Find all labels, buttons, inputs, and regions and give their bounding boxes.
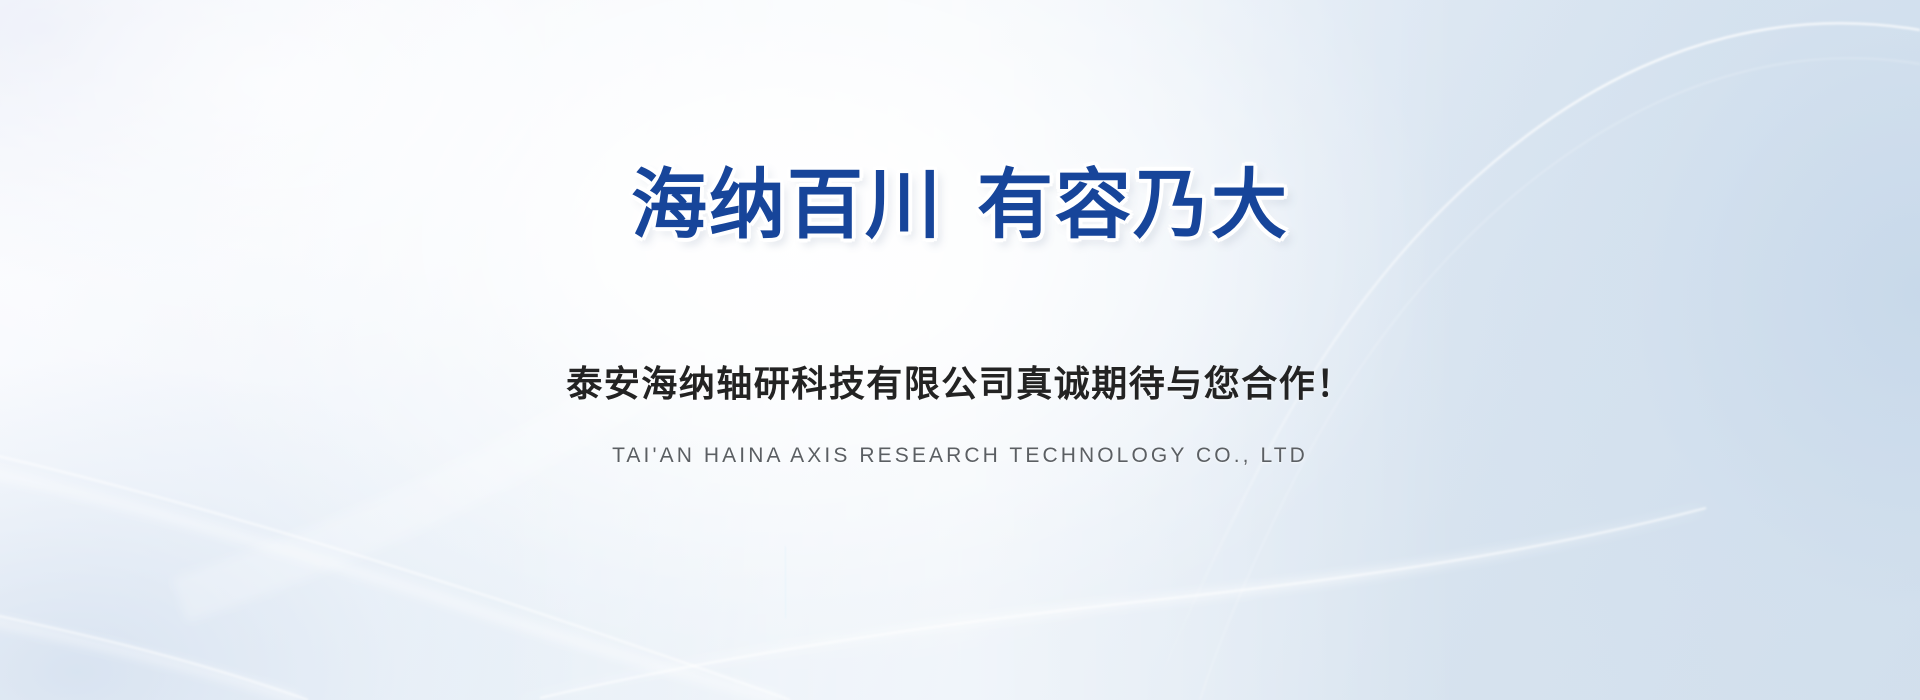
subtitle-english: TAI'AN HAINA AXIS RESEARCH TECHNOLOGY CO…	[0, 443, 1920, 468]
page-title: 海纳百川有容乃大	[0, 168, 1920, 244]
subtitle-chinese: 泰安海纳轴研科技有限公司真诚期待与您合作！	[0, 362, 1920, 405]
hero-banner: 海纳百川有容乃大 泰安海纳轴研科技有限公司真诚期待与您合作！ TAI'AN HA…	[0, 0, 1920, 700]
headline-part-one: 海纳百川	[631, 163, 943, 248]
banner-content: 海纳百川有容乃大 泰安海纳轴研科技有限公司真诚期待与您合作！ TAI'AN HA…	[0, 0, 1920, 700]
headline-part-two: 有容乃大	[977, 163, 1289, 248]
